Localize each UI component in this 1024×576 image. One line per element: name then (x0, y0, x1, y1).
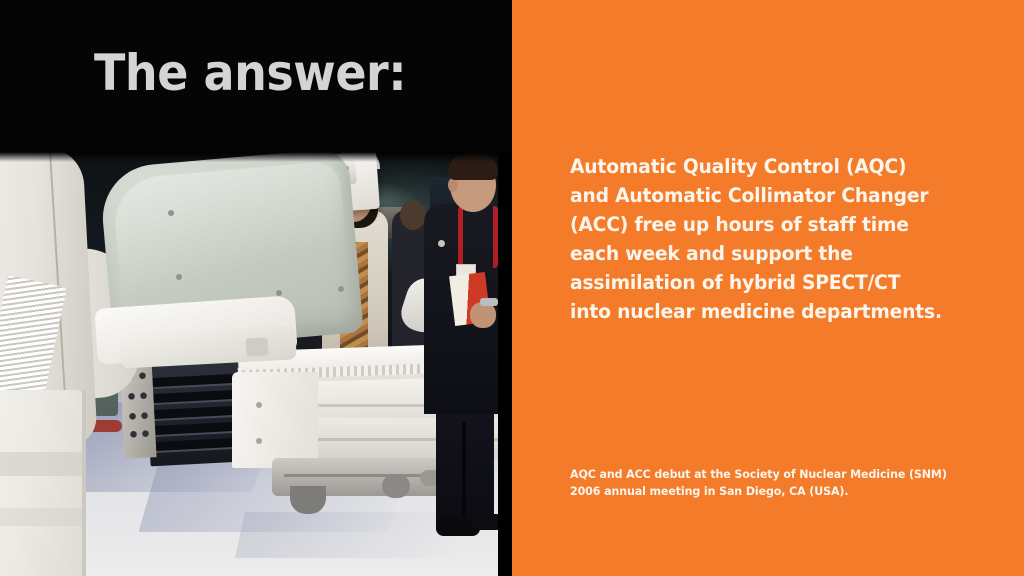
left-photo-panel: The answer: (0, 0, 512, 576)
detector-arm-notch (246, 337, 269, 356)
table-side-panel (232, 372, 318, 468)
photo-top-fade (0, 152, 512, 162)
presenter-lapel-pin (438, 240, 445, 247)
right-content-panel: Automatic Quality Control (AQC) and Auto… (512, 0, 1024, 576)
console-edge (82, 390, 86, 576)
console-band (0, 452, 86, 476)
slide-photograph (0, 152, 512, 576)
detector-screw (338, 286, 344, 292)
presenter-leg-split (462, 422, 466, 530)
panel-screw (256, 438, 262, 444)
operator-console (0, 390, 86, 576)
console-band (0, 508, 86, 526)
detector-screw (168, 210, 174, 216)
body-paragraph: Automatic Quality Control (AQC) and Auto… (570, 152, 944, 326)
presenter-ear (448, 178, 458, 192)
presenter-lanyard (458, 206, 498, 268)
panel-screw (256, 402, 262, 408)
presenter-wristwatch (480, 298, 498, 306)
detector-screw (276, 290, 282, 296)
caster-wheel (290, 486, 326, 514)
caster-wheel (382, 474, 410, 498)
slide-title: The answer: (94, 44, 406, 102)
photo-caption: AQC and ACC debut at the Society of Nucl… (570, 466, 954, 500)
photo-right-edge (498, 152, 512, 576)
presentation-slide: The answer: (0, 0, 1024, 576)
detector-screw (176, 274, 182, 280)
